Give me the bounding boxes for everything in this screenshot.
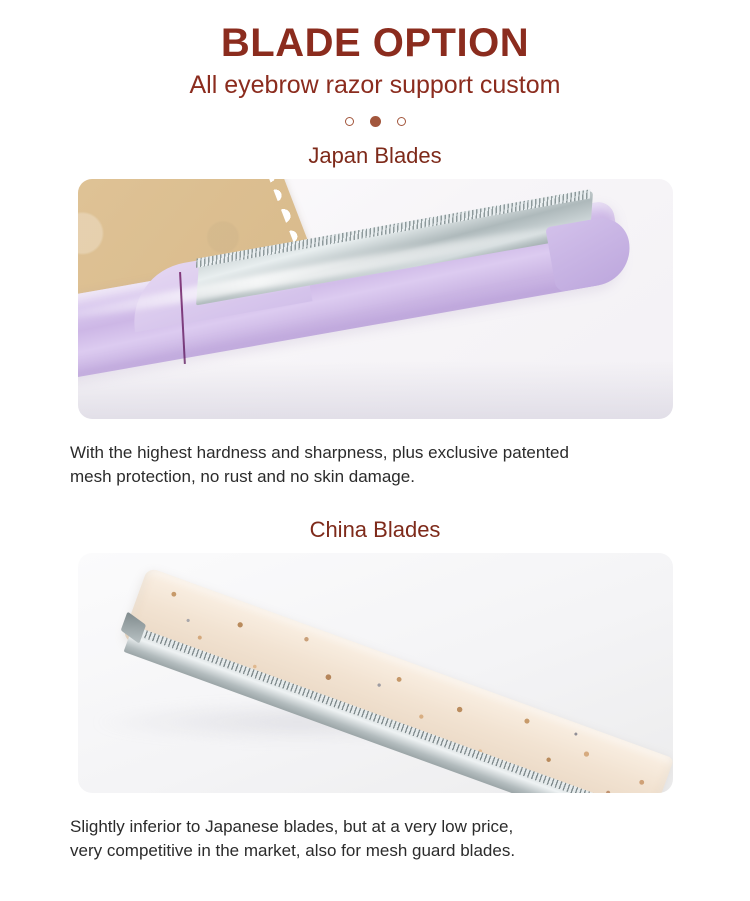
caption-line-2: mesh protection, no rust and no skin dam… <box>70 465 680 489</box>
carousel-dot-indicator[interactable] <box>0 115 750 129</box>
product-photo-japan-blade <box>78 179 673 419</box>
section-heading-japan: Japan Blades <box>0 129 750 179</box>
razor-tip <box>545 213 635 292</box>
product-photo-china-blade <box>78 553 673 793</box>
circle-outline-icon[interactable] <box>345 117 354 126</box>
caption-line-2: very competitive in the market, also for… <box>70 839 680 863</box>
section-japan-blades: Japan Blades With the highest hardness a… <box>0 129 750 489</box>
caption-line-1: With the highest hardness and sharpness,… <box>70 441 680 465</box>
page-subtitle: All eyebrow razor support custom <box>0 72 750 100</box>
circle-outline-icon[interactable] <box>397 117 406 126</box>
beige-speckled-razor <box>106 567 672 793</box>
section-heading-china: China Blades <box>0 489 750 553</box>
caption-japan-blades: With the highest hardness and sharpness,… <box>70 419 680 489</box>
section-china-blades: China Blades Slightly inferior to Japane… <box>0 489 750 863</box>
blade-option-page: BLADE OPTION All eyebrow razor support c… <box>0 0 750 863</box>
caption-line-1: Slightly inferior to Japanese blades, bu… <box>70 815 680 839</box>
page-title: BLADE OPTION <box>0 22 750 64</box>
page-header: BLADE OPTION All eyebrow razor support c… <box>0 0 750 100</box>
caption-china-blades: Slightly inferior to Japanese blades, bu… <box>70 793 680 863</box>
circle-filled-icon[interactable] <box>370 116 381 127</box>
